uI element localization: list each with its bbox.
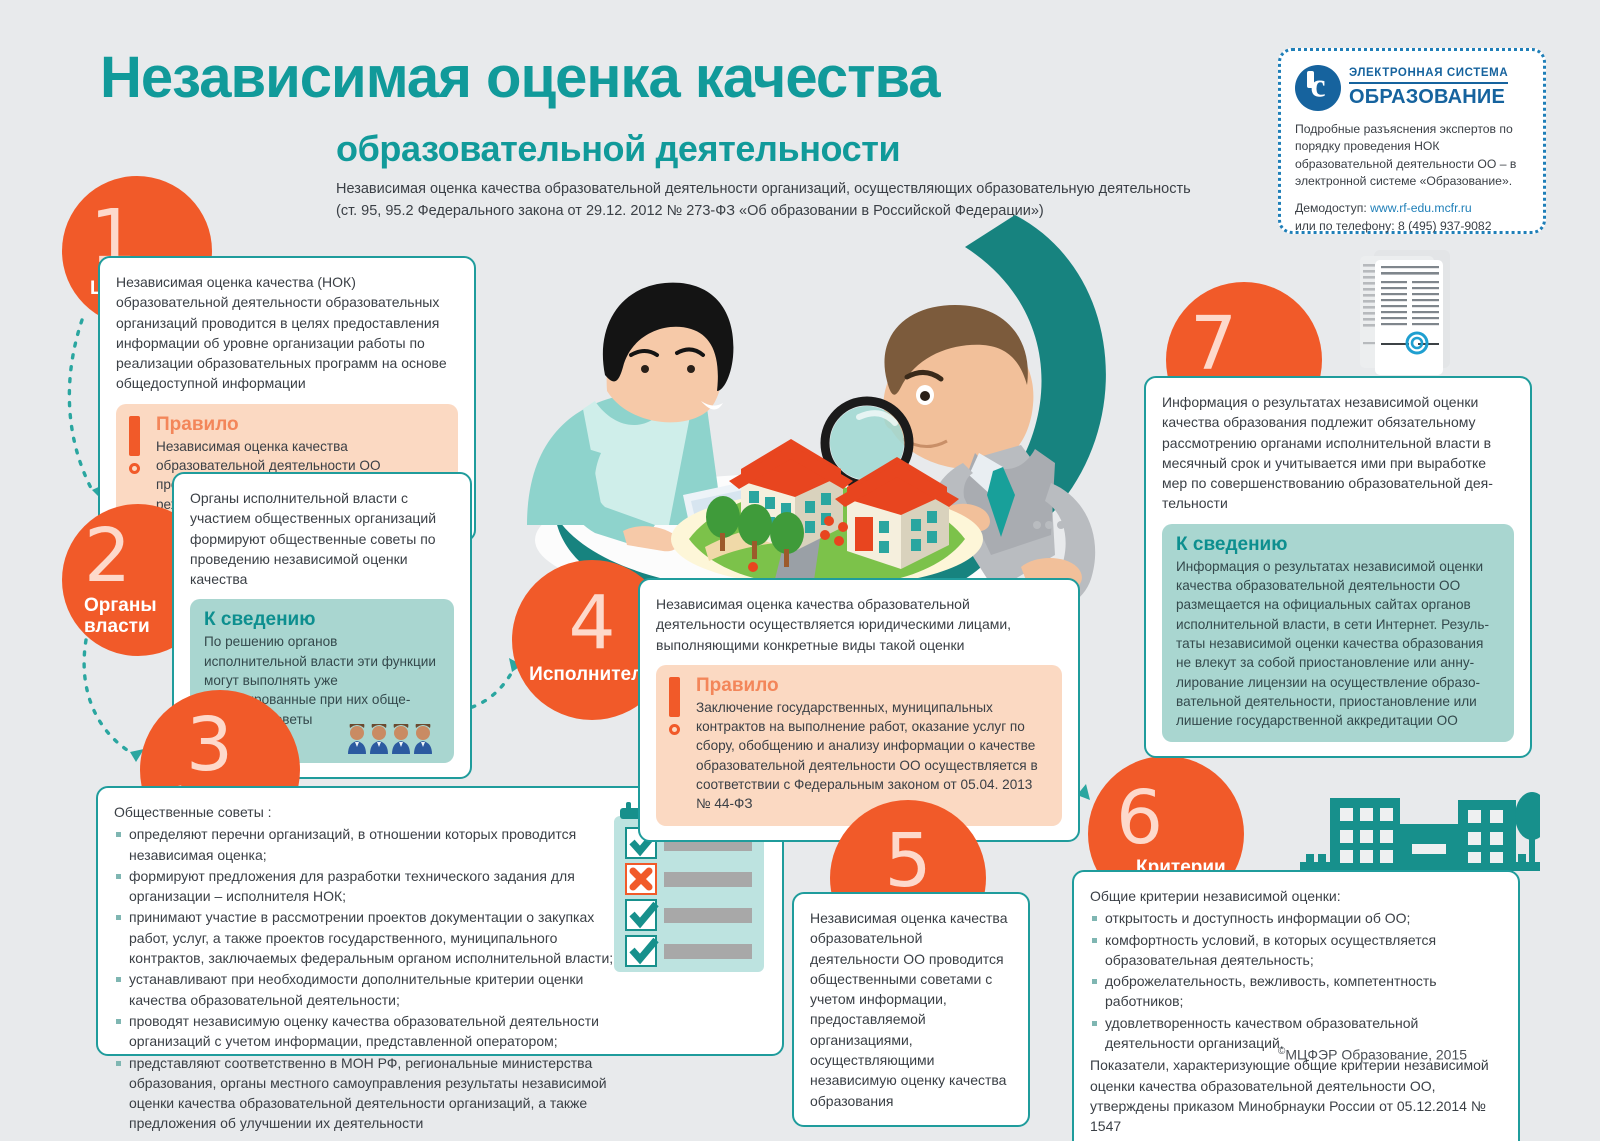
list-item: комфортность условий, в которых осуществ… xyxy=(1090,930,1502,971)
list-item: принимают участие в рассмотрении проекто… xyxy=(114,907,634,968)
list-item: доброжелательность, вежливость, компетен… xyxy=(1090,971,1502,1012)
step-1-rule-title: Правило xyxy=(156,414,446,436)
step-4-rule-title: Правило xyxy=(696,675,1050,697)
step-6-card: Общие критерии независимой оценки: откры… xyxy=(1072,870,1520,1141)
step-2-label-line2: власти xyxy=(84,617,157,638)
step-6-number: 6 xyxy=(1106,789,1163,848)
step-7-note-box: К сведению Информация о результатах неза… xyxy=(1162,524,1514,743)
step-3-bullet-list: определяют перечни организаций, в отноше… xyxy=(114,824,634,1133)
step-2-number: 2 xyxy=(84,527,131,586)
step-7-note-body: Информация о результатах независимой оце… xyxy=(1176,557,1500,731)
step-4-card: Независимая оценка качества образователь… xyxy=(638,578,1080,842)
demo-phone: или по телефону: 8 (495) 937-9082 xyxy=(1295,219,1492,233)
brand-name-bottom: ОБРАЗОВАНИЕ xyxy=(1349,86,1508,109)
step-4-rule-body: Заключение государственных, муниципальны… xyxy=(696,698,1050,814)
list-item: проводят независимую оценку качества обр… xyxy=(114,1011,634,1052)
step-6-intro: Общие критерии независимой оценки: xyxy=(1090,886,1502,906)
exclamation-icon xyxy=(129,416,140,474)
list-item: представляют соответственно в МОН РФ, ре… xyxy=(114,1053,634,1134)
page-title: Независимая оценка качества xyxy=(100,48,940,109)
step-2-body: Органы исполнительной власти с участием … xyxy=(190,488,454,589)
step-2-note-title: К сведению xyxy=(204,609,440,631)
list-item: формируют предложения для разработки тех… xyxy=(114,866,634,907)
brand-description: Подробные разъяснения экспертов по поряд… xyxy=(1295,121,1529,190)
step-7-note-title: К сведению xyxy=(1176,534,1500,556)
brand-name-top: ЭЛЕКТРОННАЯ СИСТЕМА xyxy=(1349,67,1508,84)
step-5-card: Независимая оценка качества образователь… xyxy=(792,892,1030,1127)
brand-card: ЭЛЕКТРОННАЯ СИСТЕМА ОБРАЗОВАНИЕ Подробны… xyxy=(1278,48,1546,234)
step-4-label: Исполнитель xyxy=(529,665,655,686)
people-group-icon xyxy=(346,724,440,754)
step-4-body: Независимая оценка качества образователь… xyxy=(656,594,1062,655)
demo-label: Демодоступ: xyxy=(1295,201,1367,215)
step-1-body: Независимая оценка качества (НОК) образо… xyxy=(116,272,458,394)
step-5-number: 5 xyxy=(884,832,931,891)
list-item: определяют перечни организаций, в отноше… xyxy=(114,824,634,865)
page-subtitle: образовательной деятельности xyxy=(336,128,900,170)
exclamation-icon xyxy=(669,677,680,735)
copyright-text: МЦФЭР Образование, 2015 xyxy=(1285,1047,1467,1063)
step-5-body: Независимая оценка качества образователь… xyxy=(810,908,1012,1111)
brand-logo-icon xyxy=(1295,65,1341,111)
step-2-label-line1: Органы xyxy=(84,596,157,617)
brand-logo-row: ЭЛЕКТРОННАЯ СИСТЕМА ОБРАЗОВАНИЕ xyxy=(1295,65,1529,111)
step-7-body: Информация о результатах независимой оце… xyxy=(1162,392,1514,514)
step-3-number: 3 xyxy=(156,716,233,775)
step-4-number: 4 xyxy=(568,594,615,653)
step-6-outro: Показатели, характеризующие общие критер… xyxy=(1090,1055,1502,1136)
brand-demo-access: Демодоступ: www.rf-edu.mcfr.ru или по те… xyxy=(1295,200,1529,235)
demo-url-link[interactable]: www.rf-edu.mcfr.ru xyxy=(1370,201,1472,215)
step-7-number: 7 xyxy=(1182,315,1237,374)
step-7-card: Информация о результатах независимой оце… xyxy=(1144,376,1532,758)
step-2-label: Органы власти xyxy=(84,596,157,637)
central-illustration xyxy=(455,195,1135,625)
document-icon xyxy=(1352,250,1458,380)
copyright-line: ©МЦФЭР Образование, 2015 xyxy=(1278,1046,1467,1063)
list-item: открытость и доступность информации об О… xyxy=(1090,908,1502,928)
infographic-page: Независимая оценка качества образователь… xyxy=(0,0,1600,1141)
step-4-rule-box: Правило Заключение государственных, муни… xyxy=(656,665,1062,826)
step-6-bullet-list: открытость и доступность информации об О… xyxy=(1090,908,1502,1053)
list-item: устанавливают при необходимости дополнит… xyxy=(114,969,634,1010)
